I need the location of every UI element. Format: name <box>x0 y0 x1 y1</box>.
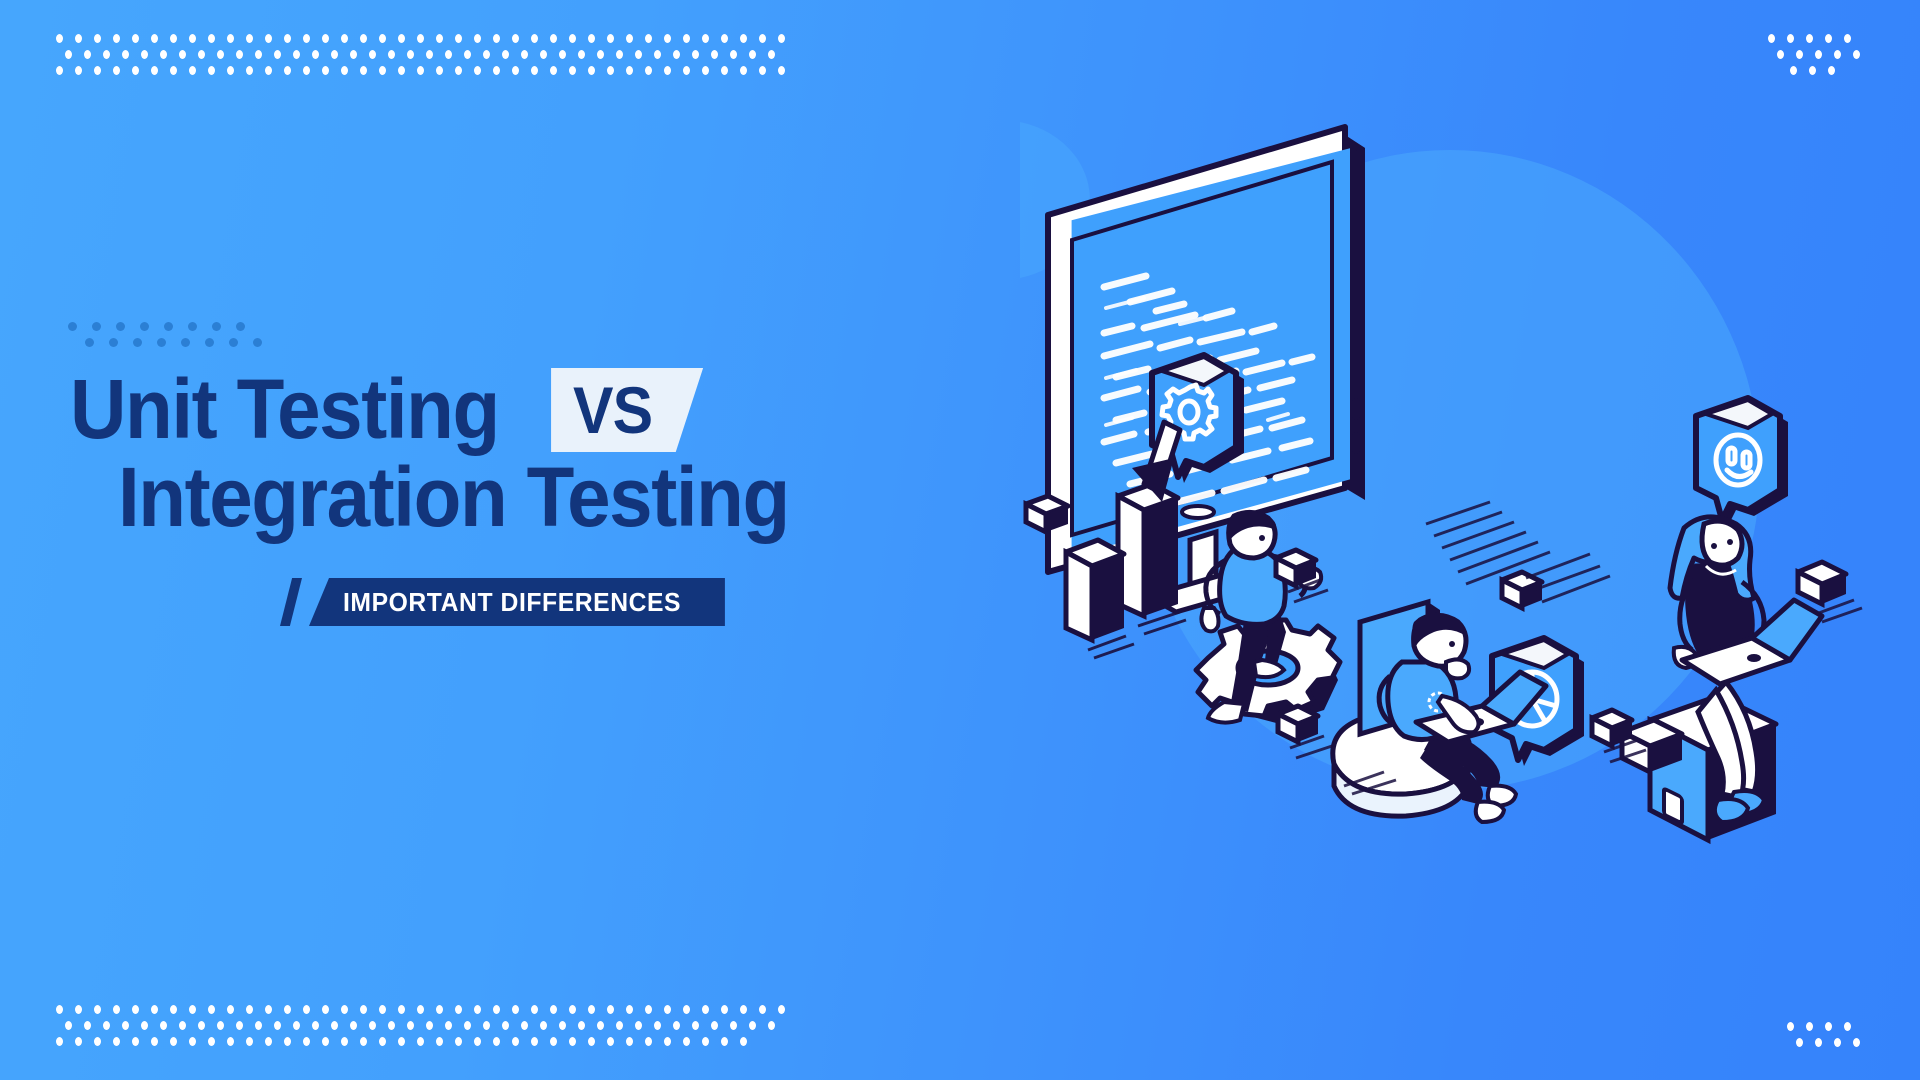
decorative-dot <box>246 1005 253 1014</box>
decorative-dot <box>512 1037 519 1046</box>
decorative-dot <box>426 1021 433 1030</box>
subtitle-label: IMPORTANT DIFFERENCES <box>343 587 681 618</box>
decorative-dot <box>645 1005 652 1014</box>
decorative-dot <box>132 34 139 43</box>
decorative-dot <box>255 1021 262 1030</box>
decorative-dot <box>721 34 728 43</box>
decorative-dot <box>274 50 281 59</box>
decorative-dot <box>312 1021 319 1030</box>
decorative-dot <box>778 1005 785 1014</box>
decorative-dot <box>151 66 158 75</box>
decorative-dot <box>531 1005 538 1014</box>
decorative-dot <box>217 50 224 59</box>
decorative-dot <box>236 50 243 59</box>
decorative-dot <box>417 66 424 75</box>
decorative-dot <box>1834 50 1841 59</box>
decorative-dot <box>645 66 652 75</box>
decorative-dot <box>133 338 142 347</box>
decorative-dot <box>151 1005 158 1014</box>
decorative-dot <box>205 338 214 347</box>
decorative-dot <box>188 322 197 331</box>
decorative-dot <box>227 66 234 75</box>
decorative-dot <box>521 50 528 59</box>
decorative-dots-top-right <box>1768 34 1872 75</box>
decorative-dot <box>493 66 500 75</box>
decorative-dot <box>1806 34 1813 43</box>
decorative-dot <box>303 1037 310 1046</box>
decorative-dot <box>170 66 177 75</box>
decorative-dot <box>436 1005 443 1014</box>
decorative-dot <box>116 322 125 331</box>
decorative-dot <box>626 34 633 43</box>
decorative-dot <box>673 1021 680 1030</box>
decorative-dot <box>132 1005 139 1014</box>
decorative-dot <box>417 1037 424 1046</box>
decorative-dot <box>246 66 253 75</box>
decorative-dot <box>692 1021 699 1030</box>
decorative-dot <box>759 1005 766 1014</box>
decorative-dot <box>654 50 661 59</box>
decorative-dot <box>721 1005 728 1014</box>
decorative-dot <box>540 50 547 59</box>
decorative-dot <box>379 34 386 43</box>
decorative-dot <box>664 34 671 43</box>
decorative-dot <box>331 50 338 59</box>
decorative-dot <box>341 1005 348 1014</box>
decorative-dot <box>65 50 72 59</box>
decorative-dot <box>293 1021 300 1030</box>
decorative-dot <box>445 50 452 59</box>
title-row-primary: Unit Testing VS <box>70 370 970 452</box>
decorative-dot <box>56 1037 63 1046</box>
decorative-dot <box>493 34 500 43</box>
decorative-dot <box>1834 1038 1841 1047</box>
decorative-dot <box>350 1021 357 1030</box>
decorative-dot <box>664 1037 671 1046</box>
decorative-dot <box>369 1021 376 1030</box>
decorative-dot <box>322 34 329 43</box>
decorative-dot <box>521 1021 528 1030</box>
decorative-dot <box>379 1037 386 1046</box>
decorative-dot <box>65 1021 72 1030</box>
decorative-dot <box>94 1005 101 1014</box>
decorative-dot <box>379 66 386 75</box>
decorative-dot <box>132 1037 139 1046</box>
decorative-dot <box>94 66 101 75</box>
decorative-dot <box>68 322 77 331</box>
decorative-dot <box>198 1021 205 1030</box>
decorative-dot <box>664 1005 671 1014</box>
decorative-dots-above-title <box>68 322 277 347</box>
decorative-dot <box>284 1005 291 1014</box>
decorative-dot <box>512 34 519 43</box>
decorative-dot <box>75 1037 82 1046</box>
decorative-dot <box>141 1021 148 1030</box>
decorative-dot <box>626 1005 633 1014</box>
decorative-dot <box>626 66 633 75</box>
decorative-dot <box>303 1005 310 1014</box>
decorative-dot <box>436 1037 443 1046</box>
decorative-dot <box>588 1037 595 1046</box>
decorative-dot <box>493 1037 500 1046</box>
decorative-dot <box>474 1005 481 1014</box>
decorative-dot <box>597 50 604 59</box>
decorative-dot <box>759 66 766 75</box>
decorative-dot <box>740 34 747 43</box>
decorative-dot <box>92 322 101 331</box>
decorative-dot <box>455 1037 462 1046</box>
decorative-dot <box>1809 66 1816 75</box>
decorative-dot <box>360 1037 367 1046</box>
decorative-dot <box>569 1037 576 1046</box>
page-title-line-2: Integration Testing <box>118 458 910 537</box>
decorative-dot <box>151 1037 158 1046</box>
decorative-dot <box>768 1021 775 1030</box>
decorative-dot <box>645 1037 652 1046</box>
decorative-dot <box>455 34 462 43</box>
decorative-dot <box>369 50 376 59</box>
decorative-dots-bottom-left <box>56 1005 797 1046</box>
decorative-dot <box>379 1005 386 1014</box>
decorative-dot <box>1825 34 1832 43</box>
decorative-dot <box>702 1005 709 1014</box>
decorative-dot <box>255 50 262 59</box>
decorative-dot <box>1825 1022 1832 1031</box>
decorative-dot <box>160 1021 167 1030</box>
decorative-dot <box>253 338 262 347</box>
decorative-dot <box>474 34 481 43</box>
decorative-dot <box>170 1037 177 1046</box>
decorative-dot <box>227 1005 234 1014</box>
decorative-dot <box>227 1037 234 1046</box>
decorative-dot <box>208 1005 215 1014</box>
decorative-dot <box>683 66 690 75</box>
decorative-dot <box>265 1005 272 1014</box>
decorative-dot <box>721 66 728 75</box>
decorative-dot <box>702 66 709 75</box>
decorative-dot <box>157 338 166 347</box>
decorative-dot <box>236 1021 243 1030</box>
decorative-dot <box>607 34 614 43</box>
decorative-dot <box>1853 50 1860 59</box>
decorative-dot <box>179 1021 186 1030</box>
decorative-dot <box>445 1021 452 1030</box>
decorative-dot <box>778 34 785 43</box>
decorative-dot <box>189 34 196 43</box>
decorative-dot <box>1844 1022 1851 1031</box>
decorative-dot <box>455 1005 462 1014</box>
decorative-dot <box>730 50 737 59</box>
decorative-dot <box>683 1005 690 1014</box>
decorative-dot <box>407 50 414 59</box>
decorative-dot <box>502 1021 509 1030</box>
decorative-dot <box>56 34 63 43</box>
decorative-dot <box>683 1037 690 1046</box>
decorative-dot <box>151 34 158 43</box>
decorative-dot <box>588 34 595 43</box>
decorative-dot <box>398 66 405 75</box>
decorative-dot <box>1806 1022 1813 1031</box>
vs-badge-label: VS <box>573 377 652 443</box>
decorative-dot <box>578 1021 585 1030</box>
decorative-dot <box>626 1037 633 1046</box>
decorative-dot <box>141 50 148 59</box>
banner-canvas: Unit Testing VS Integration Testing IMPO… <box>0 0 1920 1080</box>
decorative-dot <box>212 322 221 331</box>
decorative-dot <box>331 1021 338 1030</box>
decorative-dot <box>284 34 291 43</box>
decorative-dot <box>502 50 509 59</box>
decorative-dot <box>483 50 490 59</box>
decorative-dot <box>426 50 433 59</box>
decorative-dot <box>84 1021 91 1030</box>
decorative-dot <box>578 50 585 59</box>
decorative-dot <box>673 50 680 59</box>
decorative-dot <box>455 66 462 75</box>
decorative-dot <box>360 34 367 43</box>
dots-top-right-row <box>1768 34 1872 43</box>
decorative-dot <box>170 34 177 43</box>
decorative-dot <box>768 50 775 59</box>
decorative-dot <box>388 1021 395 1030</box>
decorative-dot <box>103 50 110 59</box>
decorative-dot <box>597 1021 604 1030</box>
isometric-illustration <box>1020 80 1920 880</box>
decorative-dot <box>683 34 690 43</box>
decorative-dot <box>113 1005 120 1014</box>
decorative-dot <box>303 34 310 43</box>
decorative-dot <box>607 1005 614 1014</box>
decorative-dot <box>85 338 94 347</box>
decorative-dot <box>1815 50 1822 59</box>
decorative-dot <box>265 34 272 43</box>
dots-top-left-row <box>56 66 797 75</box>
decorative-dot <box>350 50 357 59</box>
dots-bottom-left-row <box>65 1021 797 1030</box>
decorative-dot <box>181 338 190 347</box>
decorative-dots-bottom-right <box>1787 1022 1872 1047</box>
decorative-dot <box>265 1037 272 1046</box>
decorative-dot <box>227 34 234 43</box>
decorative-dot <box>616 1021 623 1030</box>
decorative-dot <box>559 1021 566 1030</box>
decorative-dot <box>464 50 471 59</box>
decorative-dot <box>398 1037 405 1046</box>
decorative-dot <box>109 338 118 347</box>
decorative-dot <box>550 1037 557 1046</box>
decorative-dot <box>303 66 310 75</box>
decorative-dot <box>588 1005 595 1014</box>
decorative-dot <box>569 34 576 43</box>
decorative-dot <box>1828 66 1835 75</box>
decorative-dot <box>208 66 215 75</box>
vs-badge: VS <box>551 368 703 452</box>
decorative-dot <box>1790 66 1797 75</box>
decorative-dot <box>246 1037 253 1046</box>
headline-block: Unit Testing VS Integration Testing <box>70 370 970 537</box>
decorative-dot <box>436 34 443 43</box>
decorative-dot <box>588 66 595 75</box>
decorative-dot <box>179 50 186 59</box>
decorative-dot <box>164 322 173 331</box>
decorative-dot <box>94 34 101 43</box>
decorative-dot <box>569 66 576 75</box>
decorative-dot <box>740 66 747 75</box>
decorative-dot <box>189 66 196 75</box>
dots-top-left-row <box>65 50 797 59</box>
decorative-dot <box>246 34 253 43</box>
decorative-dot <box>398 34 405 43</box>
decorative-dot <box>759 34 766 43</box>
dots-top-right-row <box>1777 50 1872 59</box>
decorative-dot <box>208 1037 215 1046</box>
decorative-dot <box>274 1021 281 1030</box>
decorative-dot <box>75 34 82 43</box>
decorative-dot <box>341 66 348 75</box>
decorative-dot <box>189 1037 196 1046</box>
decorative-dot <box>635 1021 642 1030</box>
decorative-dot <box>284 66 291 75</box>
dots-bottom-left-row <box>56 1005 797 1014</box>
decorative-dot <box>322 1037 329 1046</box>
decorative-dots-top-left <box>56 34 797 75</box>
decorative-dot <box>512 66 519 75</box>
decorative-dot <box>1844 34 1851 43</box>
decorative-dot <box>113 66 120 75</box>
decorative-dot <box>1787 34 1794 43</box>
decorative-dot <box>635 50 642 59</box>
decorative-dot <box>398 1005 405 1014</box>
decorative-dot <box>721 1037 728 1046</box>
decorative-dot <box>607 66 614 75</box>
decorative-dot <box>1815 1038 1822 1047</box>
decorative-dot <box>645 34 652 43</box>
decorative-dot <box>360 66 367 75</box>
page-title-line-1: Unit Testing <box>70 370 499 449</box>
decorative-dot <box>550 34 557 43</box>
decorative-dot <box>493 1005 500 1014</box>
decorative-dot <box>322 66 329 75</box>
dots-title-row <box>85 338 277 347</box>
decorative-dot <box>730 1021 737 1030</box>
decorative-dot <box>140 322 149 331</box>
decorative-dot <box>778 66 785 75</box>
decorative-dot <box>122 50 129 59</box>
decorative-dot <box>341 34 348 43</box>
decorative-dot <box>1853 1038 1860 1047</box>
decorative-dot <box>483 1021 490 1030</box>
decorative-dot <box>436 66 443 75</box>
subtitle-ribbon: IMPORTANT DIFFERENCES <box>280 578 725 626</box>
decorative-dot <box>711 50 718 59</box>
decorative-dot <box>217 1021 224 1030</box>
decorative-dot <box>749 50 756 59</box>
decorative-dot <box>474 66 481 75</box>
decorative-dot <box>229 338 238 347</box>
decorative-dot <box>208 34 215 43</box>
decorative-dot <box>284 1037 291 1046</box>
decorative-dot <box>512 1005 519 1014</box>
decorative-dot <box>360 1005 367 1014</box>
decorative-dot <box>170 1005 177 1014</box>
decorative-dot <box>293 50 300 59</box>
decorative-dot <box>122 1021 129 1030</box>
decorative-dot <box>417 1005 424 1014</box>
dots-bottom-left-row <box>56 1037 797 1046</box>
dots-bottom-right-row <box>1787 1022 1872 1031</box>
decorative-dot <box>417 34 424 43</box>
decorative-dot <box>607 1037 614 1046</box>
decorative-dot <box>540 1021 547 1030</box>
decorative-dot <box>1768 34 1775 43</box>
decorative-dot <box>407 1021 414 1030</box>
decorative-dot <box>1777 50 1784 59</box>
decorative-dot <box>56 1005 63 1014</box>
decorative-dot <box>1796 50 1803 59</box>
decorative-dot <box>474 1037 481 1046</box>
decorative-dot <box>664 66 671 75</box>
decorative-dot <box>531 1037 538 1046</box>
decorative-dot <box>84 50 91 59</box>
decorative-dot <box>740 1005 747 1014</box>
decorative-dot <box>616 50 623 59</box>
decorative-dot <box>559 50 566 59</box>
decorative-dot <box>749 1021 756 1030</box>
decorative-dot <box>113 1037 120 1046</box>
decorative-dot <box>531 66 538 75</box>
decorative-dot <box>132 66 139 75</box>
decorative-dot <box>1796 1038 1803 1047</box>
decorative-dot <box>740 1037 747 1046</box>
decorative-dot <box>531 34 538 43</box>
decorative-dot <box>711 1021 718 1030</box>
decorative-dot <box>160 50 167 59</box>
decorative-dot <box>56 66 63 75</box>
ribbon-slash-icon <box>280 578 302 626</box>
decorative-dot <box>1787 1022 1794 1031</box>
decorative-dot <box>654 1021 661 1030</box>
decorative-dot <box>550 1005 557 1014</box>
dots-top-right-row <box>1790 66 1872 75</box>
decorative-dot <box>113 34 120 43</box>
decorative-dot <box>265 66 272 75</box>
decorative-dot <box>75 1005 82 1014</box>
decorative-dot <box>464 1021 471 1030</box>
floating-cube <box>1798 562 1846 604</box>
dots-title-row <box>68 322 277 331</box>
decorative-dot <box>550 66 557 75</box>
dots-bottom-right-row <box>1796 1038 1872 1047</box>
decorative-dot <box>702 1037 709 1046</box>
dots-top-left-row <box>56 34 797 43</box>
decorative-dot <box>75 66 82 75</box>
decorative-dot <box>322 1005 329 1014</box>
decorative-dot <box>692 50 699 59</box>
decorative-dot <box>569 1005 576 1014</box>
decorative-dot <box>341 1037 348 1046</box>
ribbon-body: IMPORTANT DIFFERENCES <box>309 578 725 626</box>
decorative-dot <box>236 322 245 331</box>
decorative-dot <box>388 50 395 59</box>
decorative-dot <box>702 34 709 43</box>
decorative-dot <box>189 1005 196 1014</box>
decorative-dot <box>198 50 205 59</box>
decorative-dot <box>312 50 319 59</box>
decorative-dot <box>94 1037 101 1046</box>
decorative-dot <box>103 1021 110 1030</box>
